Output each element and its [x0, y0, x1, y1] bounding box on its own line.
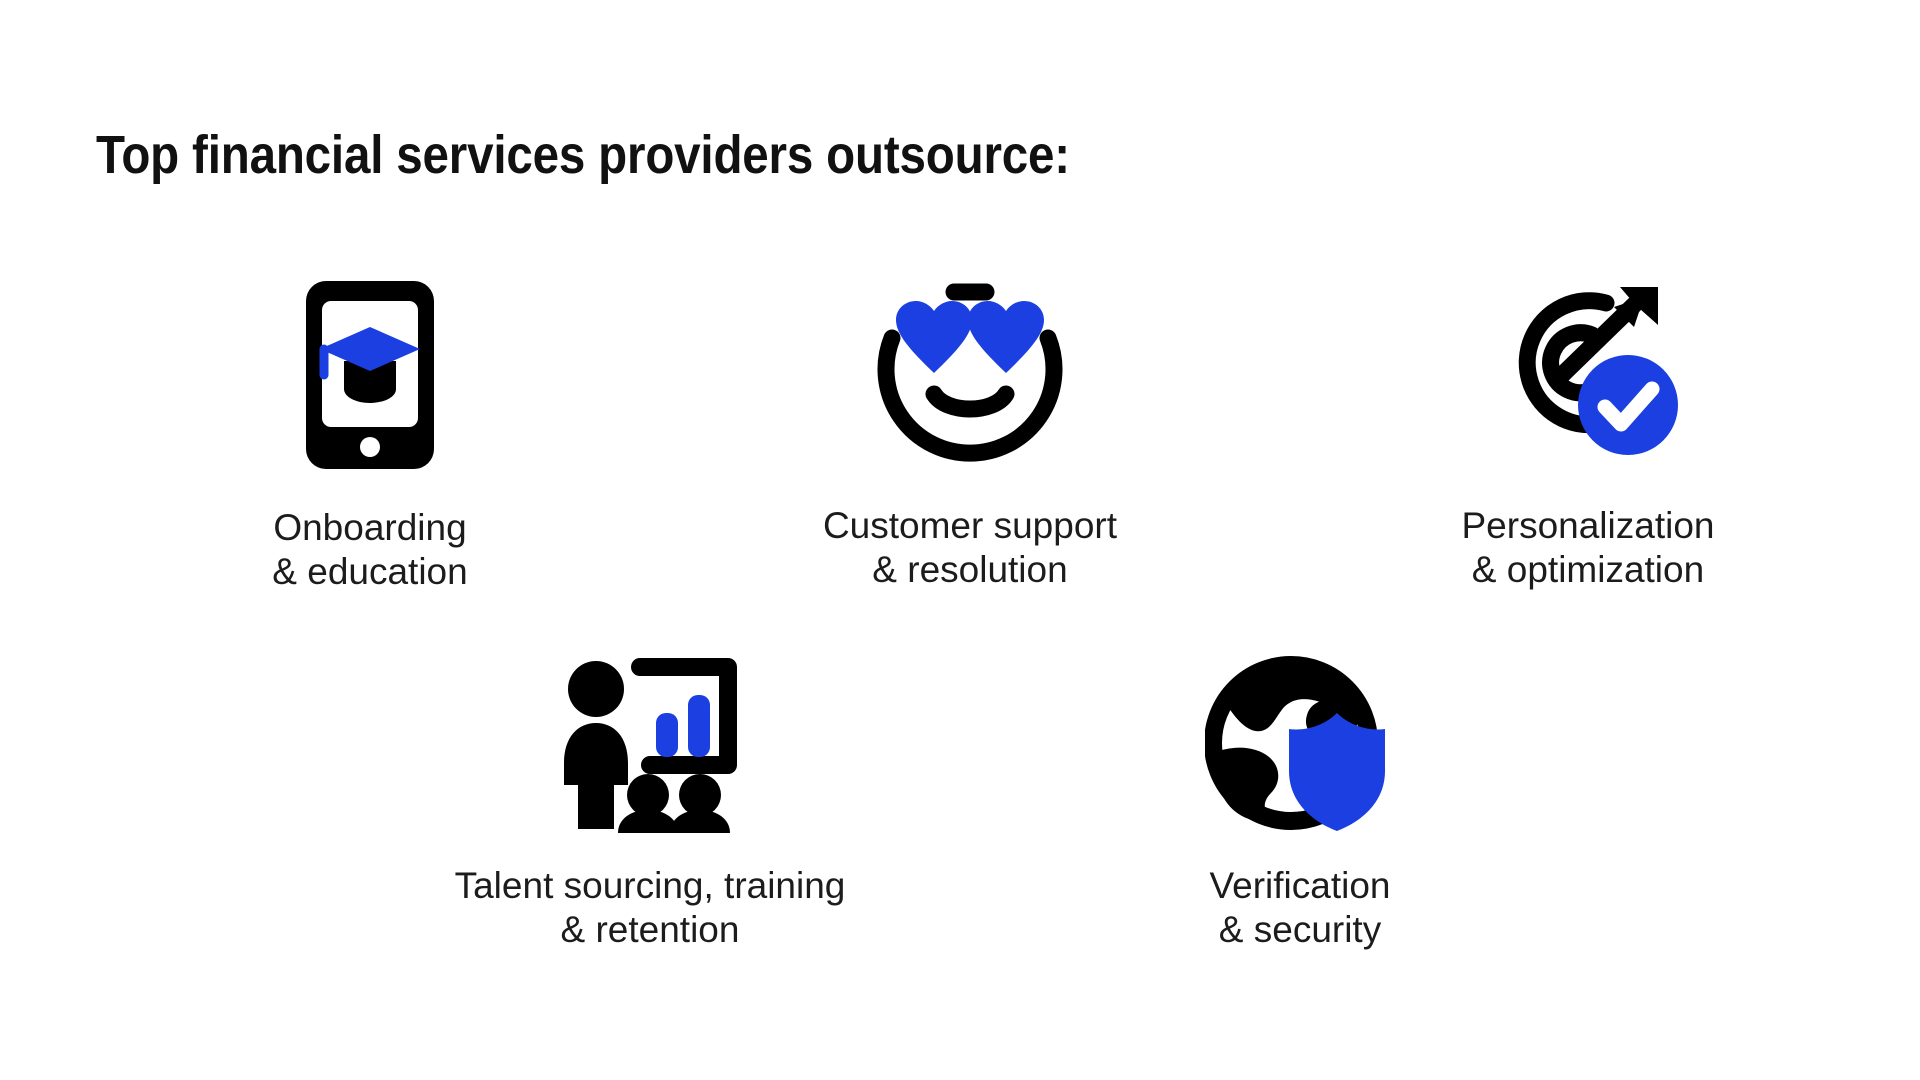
- service-label-line1: Onboarding: [273, 507, 466, 548]
- presenter-chart-board-audience-icon: [552, 648, 748, 838]
- service-item-onboarding: Onboarding & education: [160, 270, 580, 595]
- service-item-customer-support: Customer support & resolution: [760, 268, 1180, 593]
- service-label-line1: Personalization: [1462, 505, 1715, 546]
- service-label-personalization: Personalization & optimization: [1462, 504, 1715, 593]
- service-label-onboarding: Onboarding & education: [272, 506, 467, 595]
- service-label-customer-support: Customer support & resolution: [823, 504, 1117, 593]
- service-label-line1: Verification: [1210, 865, 1391, 906]
- service-label-talent: Talent sourcing, training & retention: [455, 864, 846, 953]
- service-label-verification: Verification & security: [1210, 864, 1391, 953]
- target-arrow-check-icon: [1488, 268, 1688, 478]
- service-label-line2: & education: [272, 550, 467, 594]
- services-grid: Onboarding & education Customer support …: [0, 0, 1920, 1080]
- service-label-line2: & security: [1210, 908, 1391, 952]
- heart-eyes-smiley-icon: [870, 268, 1070, 478]
- service-label-line2: & resolution: [823, 548, 1117, 592]
- service-item-verification: Verification & security: [1090, 648, 1510, 953]
- service-label-line1: Customer support: [823, 505, 1117, 546]
- smartphone-graduation-cap-icon: [300, 270, 440, 480]
- service-label-line2: & optimization: [1462, 548, 1715, 592]
- service-item-personalization: Personalization & optimization: [1378, 268, 1798, 593]
- service-label-line1: Talent sourcing, training: [455, 865, 846, 906]
- service-item-talent: Talent sourcing, training & retention: [440, 648, 860, 953]
- service-label-line2: & retention: [455, 908, 846, 952]
- globe-shield-icon: [1205, 648, 1395, 838]
